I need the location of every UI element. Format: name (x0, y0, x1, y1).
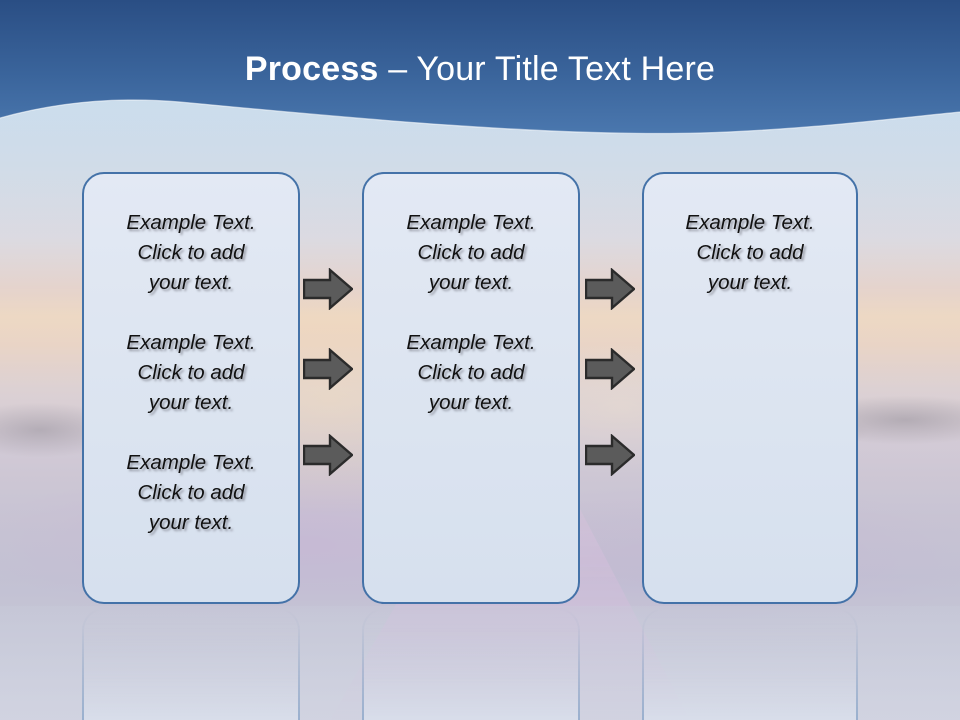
text-block[interactable]: Example Text. Click to add your text. (374, 328, 568, 418)
arrow-col2-to-col3-row2 (585, 348, 635, 390)
page-title-strong: Process (245, 50, 379, 88)
right-arrow-icon (585, 434, 635, 476)
box-reflection-1 (82, 608, 300, 720)
page-title-rest: – Your Title Text Here (379, 50, 716, 88)
box-reflection-3 (642, 608, 858, 720)
process-box-2-content: Example Text. Click to add your text. Ex… (374, 208, 568, 418)
arrow-col1-to-col2-row3 (303, 434, 353, 476)
page-title: Process – Your Title Text Here (0, 50, 960, 89)
text-block[interactable]: Example Text. Click to add your text. (654, 208, 846, 298)
right-arrow-icon (585, 348, 635, 390)
arrow-col2-to-col3-row3 (585, 434, 635, 476)
process-box-1-content: Example Text. Click to add your text. Ex… (94, 208, 288, 538)
text-block[interactable]: Example Text. Click to add your text. (94, 448, 288, 538)
text-block[interactable]: Example Text. Click to add your text. (94, 208, 288, 298)
process-box-1[interactable]: Example Text. Click to add your text. Ex… (82, 172, 300, 604)
text-block[interactable]: Example Text. Click to add your text. (94, 328, 288, 418)
arrow-col1-to-col2-row2 (303, 348, 353, 390)
text-block[interactable]: Example Text. Click to add your text. (374, 208, 568, 298)
right-arrow-icon (303, 348, 353, 390)
right-arrow-icon (585, 268, 635, 310)
process-box-2[interactable]: Example Text. Click to add your text. Ex… (362, 172, 580, 604)
right-arrow-icon (303, 268, 353, 310)
right-arrow-icon (303, 434, 353, 476)
arrow-col1-to-col2-row1 (303, 268, 353, 310)
process-box-3-content: Example Text. Click to add your text. (654, 208, 846, 298)
slide-canvas: Process – Your Title Text Here Example T… (0, 0, 960, 720)
process-box-3[interactable]: Example Text. Click to add your text. (642, 172, 858, 604)
arrow-col2-to-col3-row1 (585, 268, 635, 310)
box-reflection-2 (362, 608, 580, 720)
